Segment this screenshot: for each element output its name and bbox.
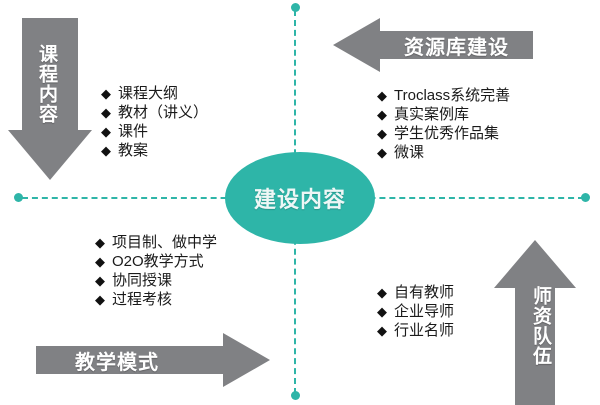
diamond-bullet-icon: ◆ [101, 122, 111, 141]
list-item: ◆ 微课 [377, 143, 510, 162]
list-item: ◆ 企业导师 [377, 302, 454, 321]
diamond-bullet-icon: ◆ [95, 290, 105, 309]
list-item: ◆ 课程大纲 [101, 84, 208, 103]
list-item-label: 行业名师 [394, 321, 454, 340]
diamond-bullet-icon: ◆ [377, 283, 387, 302]
list-item: ◆ 过程考核 [95, 290, 217, 309]
list-item-label: 教案 [118, 141, 148, 160]
arrow-label-course-content: 课程内容 [28, 44, 56, 124]
list-item: ◆ 教案 [101, 141, 208, 160]
list-item: ◆ 学生优秀作品集 [377, 124, 510, 143]
diamond-bullet-icon: ◆ [377, 86, 387, 105]
list-item-label: 课程大纲 [118, 84, 178, 103]
diagram-canvas: 课程内容 ◆ 课程大纲 ◆ 教材（讲义） ◆ 课件 ◆ 教案 资源库建设 ◆ T… [0, 0, 600, 405]
diamond-bullet-icon: ◆ [377, 143, 387, 162]
list-item: ◆ O2O教学方式 [95, 252, 217, 271]
list-item: ◆ 项目制、做中学 [95, 233, 217, 252]
list-item-label: O2O教学方式 [112, 252, 204, 271]
bullet-list-faculty-team: ◆ 自有教师 ◆ 企业导师 ◆ 行业名师 [377, 283, 454, 340]
list-item: ◆ 真实案例库 [377, 105, 510, 124]
list-item: ◆ 自有教师 [377, 283, 454, 302]
list-item: ◆ 教材（讲义） [101, 103, 208, 122]
list-item-label: 企业导师 [394, 302, 454, 321]
list-item-label: 课件 [118, 122, 148, 141]
diamond-bullet-icon: ◆ [377, 302, 387, 321]
diamond-bullet-icon: ◆ [95, 271, 105, 290]
diamond-bullet-icon: ◆ [95, 252, 105, 271]
center-node-ellipse: 建设内容 [225, 152, 375, 244]
diamond-bullet-icon: ◆ [377, 124, 387, 143]
axis-endpoint-dot-top [291, 3, 300, 12]
arrow-label-teaching-mode: 教学模式 [75, 346, 159, 375]
list-item: ◆ Troclass系统完善 [377, 86, 510, 105]
diamond-bullet-icon: ◆ [101, 103, 111, 122]
list-item-label: 真实案例库 [394, 105, 469, 124]
list-item: ◆ 协同授课 [95, 271, 217, 290]
diamond-bullet-icon: ◆ [101, 141, 111, 160]
list-item-label: 过程考核 [112, 290, 172, 309]
axis-endpoint-dot-right [581, 193, 590, 202]
list-item-label: Troclass系统完善 [394, 86, 510, 105]
diamond-bullet-icon: ◆ [377, 321, 387, 340]
bullet-list-course-content: ◆ 课程大纲 ◆ 教材（讲义） ◆ 课件 ◆ 教案 [101, 84, 208, 160]
diamond-bullet-icon: ◆ [95, 233, 105, 252]
list-item: ◆ 行业名师 [377, 321, 454, 340]
diamond-bullet-icon: ◆ [101, 84, 111, 103]
list-item-label: 学生优秀作品集 [394, 124, 499, 143]
bullet-list-resource-library: ◆ Troclass系统完善 ◆ 真实案例库 ◆ 学生优秀作品集 ◆ 微课 [377, 86, 510, 162]
list-item-label: 协同授课 [112, 271, 172, 290]
list-item-label: 微课 [394, 143, 424, 162]
diamond-bullet-icon: ◆ [377, 105, 387, 124]
axis-endpoint-dot-left [14, 193, 23, 202]
bullet-list-teaching-mode: ◆ 项目制、做中学 ◆ O2O教学方式 ◆ 协同授课 ◆ 过程考核 [95, 233, 217, 309]
list-item-label: 教材（讲义） [118, 103, 208, 122]
center-node-label: 建设内容 [254, 182, 346, 214]
list-item: ◆ 课件 [101, 122, 208, 141]
arrow-label-resource-library: 资源库建设 [404, 31, 509, 60]
arrow-label-faculty-team: 师资队伍 [524, 286, 550, 366]
list-item-label: 项目制、做中学 [112, 233, 217, 252]
list-item-label: 自有教师 [394, 283, 454, 302]
axis-endpoint-dot-bottom [291, 391, 300, 400]
